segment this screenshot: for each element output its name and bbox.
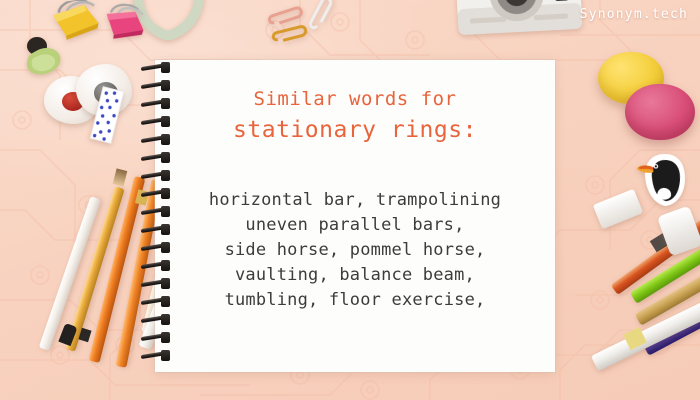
- screenshot-stage: Similar words for stationary rings: hori…: [0, 0, 700, 400]
- spiral-ring: [141, 280, 175, 287]
- binder-clip-pink: [102, 2, 150, 44]
- synonym-line: tumbling, floor exercise,: [155, 288, 555, 313]
- brand-logo[interactable]: Synonym.tech: [580, 7, 688, 22]
- heading-term: stationary rings:: [155, 115, 555, 145]
- spiral-binding: [141, 62, 177, 370]
- toucan-sticker: [633, 146, 697, 212]
- bird-figurine: [20, 36, 66, 78]
- spiral-ring: [141, 316, 175, 323]
- spiral-ring: [141, 334, 175, 341]
- spiral-ring: [141, 352, 175, 359]
- macaron-pink: [625, 84, 695, 140]
- spiral-ring: [141, 226, 175, 233]
- synonym-line: horizontal bar, trampolining: [155, 188, 555, 213]
- spiral-ring: [141, 244, 175, 251]
- synonym-line: vaulting, balance beam,: [155, 263, 555, 288]
- notebook-page-inner: Similar words for stationary rings: hori…: [155, 60, 555, 372]
- camera: [453, 0, 585, 41]
- synonym-list: horizontal bar, trampolining uneven para…: [155, 188, 555, 313]
- spiral-ring: [141, 298, 175, 305]
- spiral-ring: [141, 118, 175, 125]
- spiral-ring: [141, 136, 175, 143]
- spiral-ring: [141, 82, 175, 89]
- notebook-page: Similar words for stationary rings: hori…: [155, 60, 555, 372]
- spiral-ring: [141, 262, 175, 269]
- heading-small: Similar words for: [155, 86, 555, 112]
- synonym-line: side horse, pommel horse,: [155, 238, 555, 263]
- spiral-ring: [141, 190, 175, 197]
- spiral-ring: [141, 100, 175, 107]
- spiral-ring: [141, 64, 175, 71]
- spiral-ring: [141, 172, 175, 179]
- card-heading-block: Similar words for stationary rings:: [155, 86, 555, 145]
- spiral-ring: [141, 208, 175, 215]
- spiral-ring: [141, 154, 175, 161]
- synonym-line: uneven parallel bars,: [155, 213, 555, 238]
